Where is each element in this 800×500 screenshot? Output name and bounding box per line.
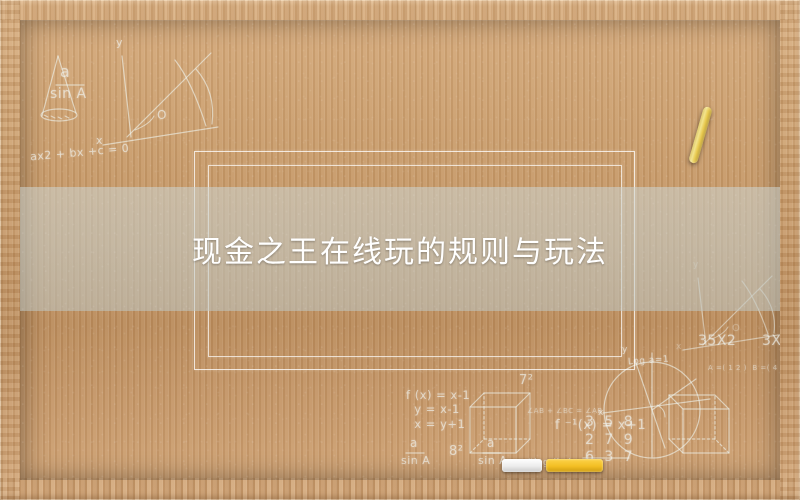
chalk-origin-2: O [732,323,740,336]
chalk-eight-squared: 8² [449,444,463,460]
chalk-matrix-row: A =( 1 2 ) B =( 4 3 ) I =( 1 0 ) [708,364,780,373]
chalkboard-surface: a sin A y x O ax2 + bx +c = 0 f (x) = x-… [20,20,780,480]
chalk-axis-x-2: x [598,408,604,419]
chalk-label-a-numerator-3: a [487,436,495,451]
cube-drawing-center [470,393,530,453]
chalk-label-sin-a-1: sin A [50,86,87,104]
title-container: 现金之王在线玩的规则与玩法 [20,187,780,311]
chalk-label-a-numerator-2: a [410,436,418,451]
frame-grain-bottom [0,478,800,500]
chalk-seven-squared: 7² [519,373,533,389]
page-title: 现金之王在线玩的规则与玩法 [192,227,608,271]
frame-grain-right [780,0,800,500]
chalk-mult-3x2: 3X2 [762,333,780,351]
white-chalk-piece-icon [502,459,542,472]
chalk-axis-y-1: y [116,36,123,50]
chalk-label-a-numerator-1: a [60,62,70,82]
angle-diagram-left [103,53,218,145]
chalk-axis-x-3: x [676,342,682,353]
chalk-function-block: f (x) = x-1 y = x-1 x = y+1 [406,388,470,431]
frame-grain-top [0,0,800,20]
chalk-origin-1: O [157,108,167,123]
wooden-frame: a sin A y x O ax2 + bx +c = 0 f (x) = x-… [0,0,800,500]
frame-grain-left [0,0,20,500]
yellow-chalk-piece-icon [546,459,603,472]
chalk-mult-35x2: 35X2 [698,333,736,351]
chalk-label-sin-a-2: sin A [401,454,430,468]
